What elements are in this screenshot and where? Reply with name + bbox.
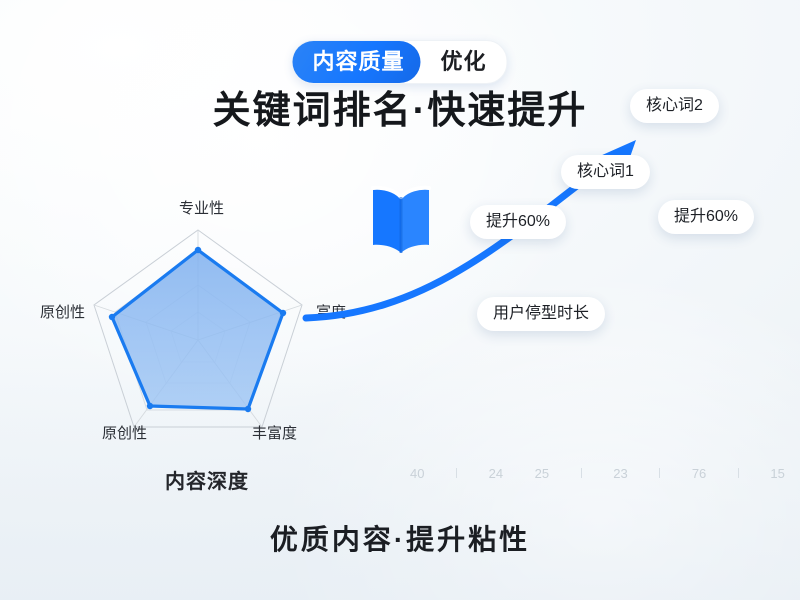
tick-mark-4 [738, 468, 739, 478]
open-book-icon-svg [368, 183, 434, 259]
open-book-icon [368, 183, 434, 259]
radar-label-top: 专业性 [179, 201, 224, 216]
poster-canvas: 内容质量 优化 关键词排名·快速提升 [0, 0, 800, 600]
radar-label-bottom-right: 丰富度 [252, 426, 297, 441]
tick-mark-1 [456, 468, 457, 478]
radar-label-right: 富度 [316, 305, 346, 320]
page-caption: 优质内容·提升粘性 [0, 518, 800, 558]
tick-value-5: 76 [692, 467, 706, 480]
tick-value-4: 23 [613, 467, 627, 480]
tick-mark-2 [581, 468, 582, 478]
radar-label-left: 原创性 [40, 305, 85, 320]
tick-value-1: 40 [410, 467, 424, 480]
tick-value-6: 15 [770, 467, 784, 480]
chip-user-dwell-time[interactable]: 用户停型时长 [477, 297, 605, 331]
badge-primary-label: 内容质量 [292, 41, 420, 83]
chip-core-keyword-2[interactable]: 核心词2 [630, 89, 719, 123]
radar-label-bottom-left: 原创性 [102, 426, 147, 441]
tick-mark-3 [659, 468, 660, 478]
badge-secondary-label: 优化 [427, 45, 501, 79]
tick-value-2: 24 [489, 467, 503, 480]
content-depth-label: 内容深度 [165, 465, 249, 494]
chip-improve-right[interactable]: 提升60% [658, 200, 754, 234]
quality-badge[interactable]: 内容质量 优化 [292, 40, 507, 84]
radar-chart-svg [40, 195, 360, 465]
chip-improve-left[interactable]: 提升60% [470, 205, 566, 239]
radar-chart: 专业性 富度 丰富度 原创性 原创性 [40, 195, 360, 465]
tick-axis: 40 24 25 23 76 15 [410, 462, 785, 484]
chip-core-keyword-1[interactable]: 核心词1 [561, 155, 650, 189]
tick-value-3: 25 [535, 467, 549, 480]
